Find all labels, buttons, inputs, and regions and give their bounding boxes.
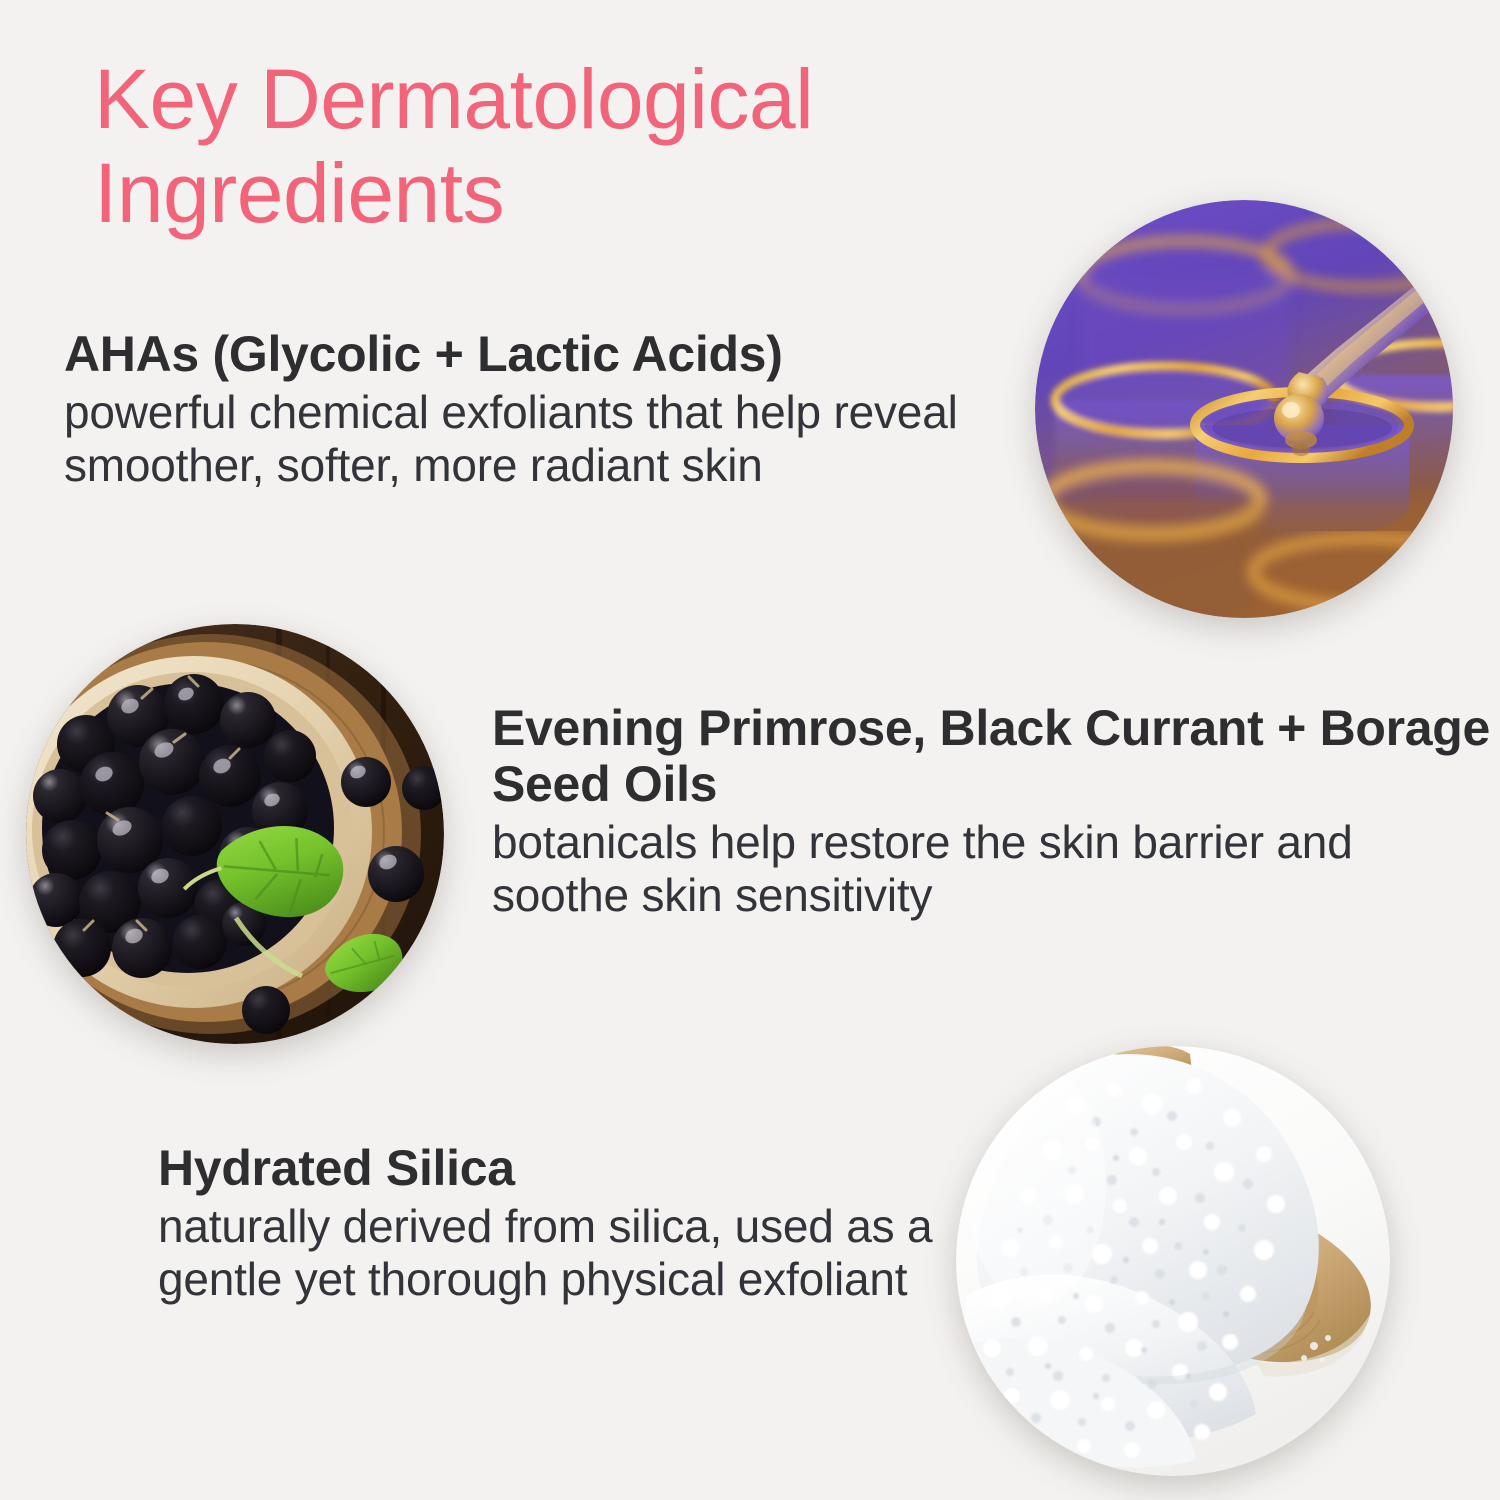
ingredient-block-aha: AHAs (Glycolic + Lactic Acids) powerful … [64,326,1044,493]
page-title: Key Dermatological Ingredients [94,52,1094,240]
ingredient-body-oils: botanicals help restore the skin barrier… [492,816,1492,923]
ingredient-block-oils: Evening Primrose, Black Currant + Borage… [492,700,1492,923]
ingredient-body-aha: powerful chemical exfoliants that help r… [64,386,1044,493]
ingredient-heading-silica: Hydrated Silica [158,1140,988,1196]
ingredient-block-silica: Hydrated Silica naturally derived from s… [158,1140,988,1307]
ingredient-heading-aha: AHAs (Glycolic + Lactic Acids) [64,326,1044,382]
lab-pipette-test-tubes-photo [1035,200,1453,618]
black-currant-bowl-photo [26,624,444,1044]
ingredient-body-silica: naturally derived from silica, used as a… [158,1200,988,1307]
ingredient-heading-oils: Evening Primrose, Black Currant + Borage… [492,700,1492,812]
hydrated-silica-granules-photo [956,1046,1390,1476]
